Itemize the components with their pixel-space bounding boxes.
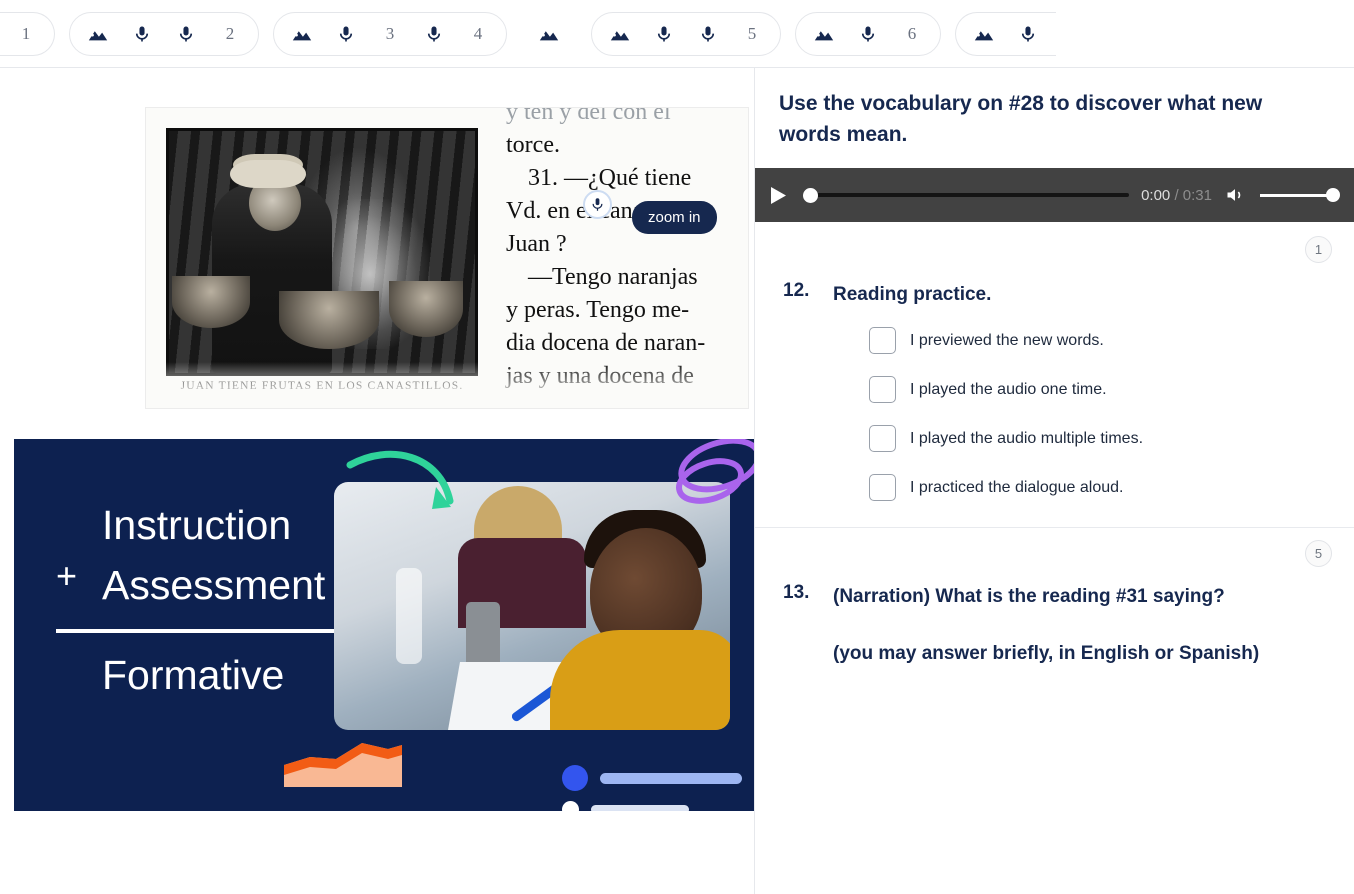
purple-scribble-icon bbox=[654, 439, 755, 531]
photo-basket bbox=[389, 281, 463, 337]
main-content: JUAN TIENE FRUTAS EN LOS CANASTILLOS. y … bbox=[0, 68, 1354, 894]
question-text: (Narration) What is the reading #31 sayi… bbox=[833, 582, 1225, 611]
status-badge: 5 bbox=[1305, 540, 1332, 567]
audio-seek-slider[interactable] bbox=[803, 188, 1129, 202]
checkbox-row[interactable]: I practiced the dialogue aloud. bbox=[869, 474, 1330, 501]
zoom-in-tooltip: zoom in bbox=[632, 201, 717, 234]
microphone-icon[interactable] bbox=[120, 14, 164, 54]
checkbox[interactable] bbox=[869, 376, 896, 403]
play-icon[interactable] bbox=[765, 182, 791, 208]
question-12-block: 1 12. Reading practice. I previewed the … bbox=[755, 222, 1354, 501]
checkbox-label: I previewed the new words. bbox=[910, 332, 1104, 350]
video-title-line1: Instruction bbox=[56, 495, 366, 555]
toolbar-page-number[interactable]: 6 bbox=[890, 24, 934, 44]
checkbox-label: I played the audio multiple times. bbox=[910, 430, 1143, 448]
image-icon[interactable] bbox=[962, 14, 1006, 54]
question-13-block: 5 13. (Narration) What is the reading #3… bbox=[755, 528, 1354, 668]
toolbar-page-number[interactable]: 3 bbox=[368, 24, 412, 44]
question-text: Reading practice. bbox=[833, 280, 991, 309]
question-note: (you may answer briefly, in English or S… bbox=[833, 639, 1330, 668]
scanned-photo bbox=[166, 128, 478, 376]
microphone-icon[interactable] bbox=[164, 14, 208, 54]
document-line: —Tengo naranjas bbox=[506, 261, 734, 294]
question-number: 12. bbox=[779, 280, 823, 309]
toolbar-group-3[interactable]: 34 bbox=[273, 12, 507, 56]
document-line: y peras. Tengo me- bbox=[506, 294, 734, 327]
toolbar-page-number[interactable]: 2 bbox=[208, 24, 252, 44]
microphone-icon[interactable] bbox=[412, 14, 456, 54]
microphone-icon[interactable] bbox=[1006, 14, 1050, 54]
toolbar-group-5[interactable]: 5 bbox=[591, 12, 781, 56]
audio-time-display: 0:00 / 0:31 bbox=[1141, 187, 1212, 204]
volume-icon[interactable] bbox=[1224, 183, 1248, 207]
audio-time-separator: / bbox=[1174, 187, 1178, 204]
checkbox-list: I previewed the new words.I played the a… bbox=[869, 327, 1330, 501]
prompt-text: Use the vocabulary on #28 to discover wh… bbox=[755, 68, 1354, 168]
video-card-title: + Instruction Assessment Formative bbox=[56, 495, 366, 705]
photo-hat bbox=[230, 160, 306, 188]
volume-slider[interactable] bbox=[1260, 188, 1340, 202]
video-title-line2: Assessment bbox=[56, 555, 366, 615]
photo-basket bbox=[172, 276, 250, 328]
microphone-icon[interactable] bbox=[642, 14, 686, 54]
image-icon[interactable] bbox=[280, 14, 324, 54]
photo-bottle bbox=[396, 568, 422, 664]
app-root: 123456 JUAN TIENE FRUTAS EN LOS CANASTIL… bbox=[0, 0, 1354, 894]
document-pane: JUAN TIENE FRUTAS EN LOS CANASTILLOS. y … bbox=[0, 68, 755, 894]
segment-toolbar[interactable]: 123456 bbox=[0, 0, 1354, 68]
audio-duration: 0:31 bbox=[1183, 187, 1212, 204]
document-line: y ten y del con el bbox=[506, 108, 734, 129]
scanned-page[interactable]: JUAN TIENE FRUTAS EN LOS CANASTILLOS. y … bbox=[146, 108, 748, 408]
white-bar bbox=[591, 805, 689, 811]
toolbar-group-2[interactable]: 2 bbox=[69, 12, 259, 56]
checkbox-label: I played the audio one time. bbox=[910, 381, 1107, 399]
image-icon[interactable] bbox=[598, 14, 642, 54]
checkbox-row[interactable]: I previewed the new words. bbox=[869, 327, 1330, 354]
toolbar-group-4[interactable] bbox=[521, 12, 577, 56]
video-title-line3: Formative bbox=[56, 645, 366, 705]
orange-chart-graphic bbox=[284, 735, 402, 787]
checkbox-row[interactable]: I played the audio multiple times. bbox=[869, 425, 1330, 452]
document-line: dia docena de naran- bbox=[506, 327, 734, 360]
status-badge: 1 bbox=[1305, 236, 1332, 263]
toolbar-page-number[interactable]: 1 bbox=[4, 24, 48, 44]
microphone-icon[interactable] bbox=[324, 14, 368, 54]
microphone-icon[interactable] bbox=[846, 14, 890, 54]
microphone-icon[interactable] bbox=[686, 14, 730, 54]
checkbox-label: I practiced the dialogue aloud. bbox=[910, 479, 1123, 497]
image-icon[interactable] bbox=[527, 14, 571, 54]
image-icon[interactable] bbox=[802, 14, 846, 54]
checkbox-row[interactable]: I played the audio one time. bbox=[869, 376, 1330, 403]
document-line: torce. bbox=[506, 129, 734, 162]
plus-symbol: + bbox=[56, 555, 77, 597]
audio-current-time: 0:00 bbox=[1141, 187, 1170, 204]
toolbar-page-number[interactable]: 5 bbox=[730, 24, 774, 44]
microphone-icon[interactable] bbox=[583, 190, 612, 219]
green-arrow-icon bbox=[344, 447, 474, 527]
photo-basket bbox=[279, 291, 379, 349]
toolbar-page-number[interactable]: 4 bbox=[456, 24, 500, 44]
video-overlay-card[interactable]: + Instruction Assessment Formative bbox=[14, 439, 755, 811]
photo-foreground-person bbox=[510, 520, 730, 730]
image-icon[interactable] bbox=[76, 14, 120, 54]
question-number: 13. bbox=[779, 582, 823, 611]
white-dot bbox=[562, 801, 579, 811]
toolbar-group-6[interactable]: 6 bbox=[795, 12, 941, 56]
blue-dot bbox=[562, 765, 588, 791]
checkbox[interactable] bbox=[869, 425, 896, 452]
decorative-progress-bars bbox=[562, 765, 742, 811]
document-line: 31. —¿Qué tiene bbox=[506, 162, 734, 195]
blue-bar bbox=[600, 773, 742, 784]
checkbox[interactable] bbox=[869, 474, 896, 501]
toolbar-group-7[interactable] bbox=[955, 12, 1056, 56]
audio-player[interactable]: 0:00 / 0:31 bbox=[755, 168, 1354, 222]
page-fade bbox=[146, 362, 748, 408]
checkbox[interactable] bbox=[869, 327, 896, 354]
toolbar-group-1[interactable]: 1 bbox=[0, 12, 55, 56]
worksheet-pane: Use the vocabulary on #28 to discover wh… bbox=[755, 68, 1354, 894]
